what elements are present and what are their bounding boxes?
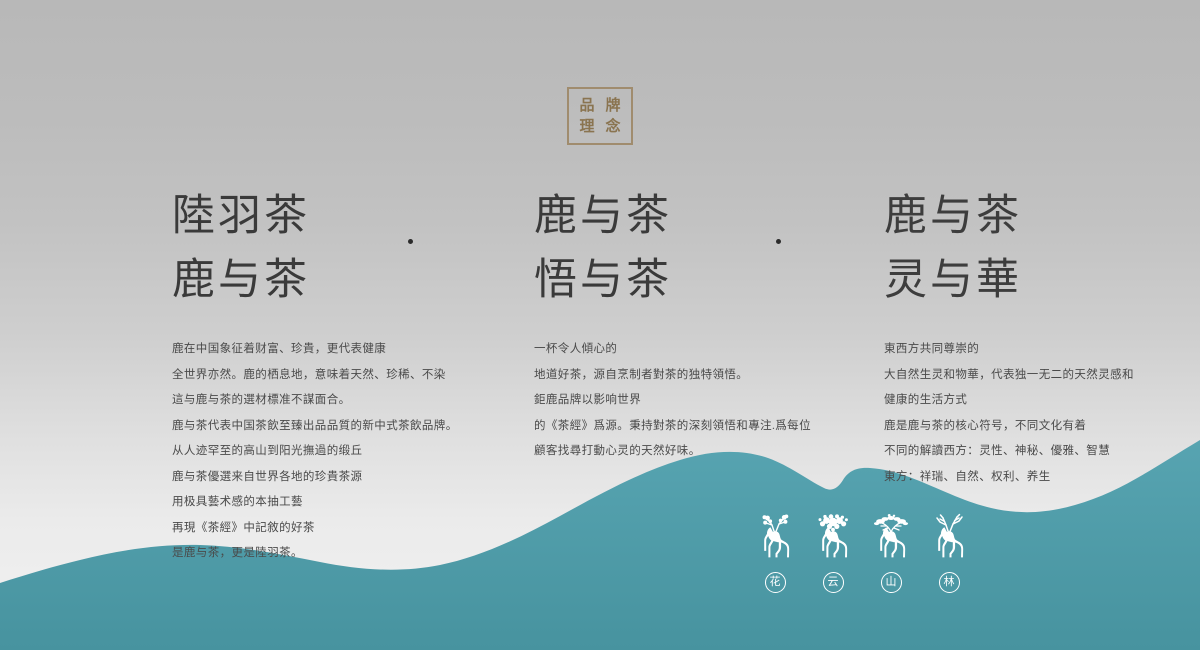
deer-icon-flower: 花	[752, 512, 798, 604]
content-column-1: 陸羽茶 鹿与茶 鹿在中国象征着财富、珍貴，更代表健康 全世界亦然。鹿的栖息地，意…	[172, 185, 462, 567]
deer-cloud-glyph	[811, 512, 855, 568]
badge-char-3: 理	[576, 117, 598, 137]
deer-mountain-glyph	[869, 512, 913, 568]
column-2-body: 一杯令人傾心的 地道好茶，源自烹制者對茶的独特領悟。 鉅鹿品牌以影响世界 的《茶…	[534, 337, 824, 465]
deer-flower-glyph	[753, 512, 797, 568]
column-1-line-3: 這与鹿与茶的選材標准不謀面合。	[172, 388, 462, 414]
badge-char-4: 念	[602, 117, 624, 137]
column-2-line-3: 鉅鹿品牌以影响世界	[534, 388, 824, 414]
column-2-heading-line-2: 悟与茶	[534, 249, 824, 313]
badge-char-1: 品	[576, 96, 598, 116]
deer-icon-cloud: 云	[810, 512, 856, 604]
column-3-line-6: 東方：祥瑞、自然、权利、养生	[884, 465, 1144, 491]
column-1-heading-line-1: 陸羽茶	[172, 185, 462, 249]
column-3-line-4: 鹿是鹿与茶的核心符号，不同文化有着	[884, 414, 1144, 440]
deer-label-circle-mountain: 山	[881, 572, 902, 593]
badge-char-grid: 品 牌 理 念	[576, 96, 624, 137]
deer-icon-mountain: 山	[868, 512, 914, 604]
brand-philosophy-badge: 品 牌 理 念	[567, 87, 633, 145]
deer-label-circle-flower: 花	[765, 572, 786, 593]
column-1-line-8: 再現《茶經》中記敘的好茶	[172, 516, 462, 542]
content-column-3: 鹿与茶 灵与華 東西方共同尊崇的 大自然生灵和物華，代表独一无二的天然灵感和 健…	[884, 185, 1144, 490]
column-1-line-2: 全世界亦然。鹿的栖息地，意味着天然、珍稀、不染	[172, 363, 462, 389]
badge-char-2: 牌	[602, 96, 624, 116]
column-1-line-9: 是鹿与茶，更是陸羽茶。	[172, 541, 462, 567]
deer-label-circle-cloud: 云	[823, 572, 844, 593]
column-2-line-5: 顧客找尋打動心灵的天然好味。	[534, 439, 824, 465]
column-1-line-7: 用极具藝术感的本抽工藝	[172, 490, 462, 516]
column-2-line-2: 地道好茶，源自烹制者對茶的独特領悟。	[534, 363, 824, 389]
column-3-line-5: 不同的解讀西方：灵性、神秘、優雅、智慧	[884, 439, 1144, 465]
column-3-heading-line-1: 鹿与茶	[884, 185, 1144, 249]
column-3-line-2: 大自然生灵和物華，代表独一无二的天然灵感和	[884, 363, 1144, 389]
deer-label-circle-forest: 林	[939, 572, 960, 593]
deer-icon-forest: 林	[926, 512, 972, 604]
column-1-heading-line-2: 鹿与茶	[172, 249, 462, 313]
deer-icon-row: 花	[752, 512, 972, 604]
column-2-heading-line-1: 鹿与茶	[534, 185, 824, 249]
column-1-line-5: 从人迹罕至的高山到阳光撫過的缎丘	[172, 439, 462, 465]
column-1-body: 鹿在中国象征着财富、珍貴，更代表健康 全世界亦然。鹿的栖息地，意味着天然、珍稀、…	[172, 337, 462, 567]
column-2-line-1: 一杯令人傾心的	[534, 337, 824, 363]
deer-forest-glyph	[927, 512, 971, 568]
column-1-line-1: 鹿在中国象征着财富、珍貴，更代表健康	[172, 337, 462, 363]
column-1-line-4: 鹿与茶代表中国茶飲至臻出品品質的新中式茶飲品牌。	[172, 414, 462, 440]
poster-canvas: 品 牌 理 念 陸羽茶 鹿与茶 鹿在中国象征着财富、珍貴，更代表健康 全世界亦然…	[0, 0, 1200, 650]
column-3-line-1: 東西方共同尊崇的	[884, 337, 1144, 363]
column-2-line-4: 的《茶經》爲源。秉持對茶的深刻領悟和專注.爲每位	[534, 414, 824, 440]
column-3-line-3: 健康的生活方式	[884, 388, 1144, 414]
column-3-heading-line-2: 灵与華	[884, 249, 1144, 313]
column-3-body: 東西方共同尊崇的 大自然生灵和物華，代表独一无二的天然灵感和 健康的生活方式 鹿…	[884, 337, 1144, 490]
column-1-line-6: 鹿与茶優選来自世界各地的珍貴茶源	[172, 465, 462, 491]
content-column-2: 鹿与茶 悟与茶 一杯令人傾心的 地道好茶，源自烹制者對茶的独特領悟。 鉅鹿品牌以…	[534, 185, 824, 465]
